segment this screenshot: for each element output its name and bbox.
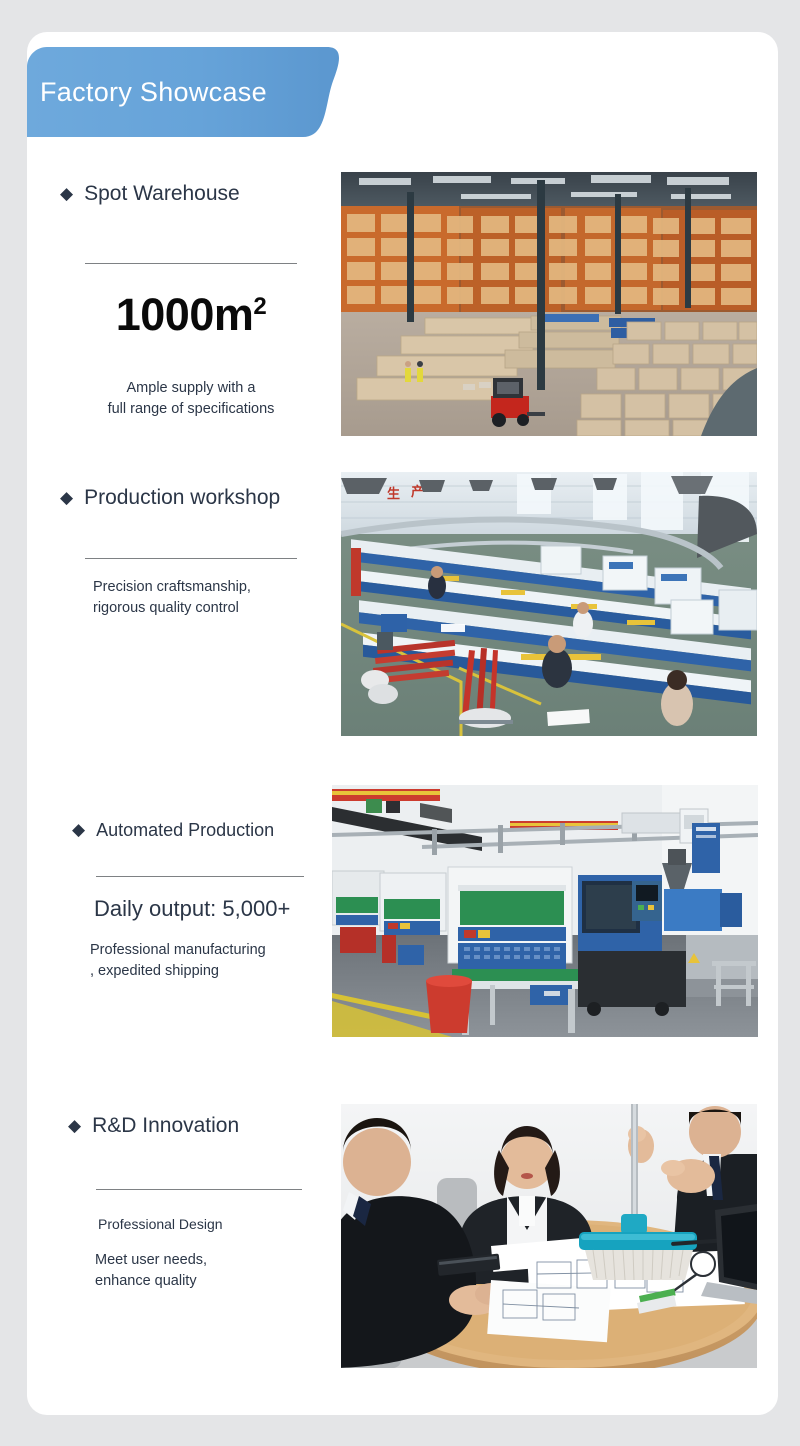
section-1-stat-superscript: 2	[253, 293, 266, 320]
section-3-heading: ◆ Automated Production	[72, 820, 274, 841]
section-2-heading: ◆ Production workshop	[60, 486, 280, 510]
section-4-description: Meet user needs, enhance quality	[95, 1250, 311, 1292]
section-3-image	[332, 785, 758, 1037]
section-2-description: Precision craftsmanship, rigorous qualit…	[93, 577, 319, 619]
section-3-title: Automated Production	[96, 820, 274, 841]
section-4-desc-line-3: enhance quality	[95, 1271, 311, 1292]
svg-text:生: 生	[387, 486, 400, 502]
section-1-image	[341, 172, 757, 436]
section-1-stat: 1000m2	[85, 292, 297, 337]
section-3-stat: Daily output: 5,000+	[94, 896, 290, 922]
section-1-heading: ◆ Spot Warehouse	[60, 182, 240, 206]
section-2-desc-line-1: Precision craftsmanship,	[93, 577, 319, 598]
section-3-desc-line-1: Professional manufacturing	[90, 940, 328, 961]
section-4-image	[341, 1104, 757, 1368]
section-1-divider	[85, 263, 297, 264]
section-1-desc-line-1: Ample supply with a	[75, 378, 307, 399]
section-1-title: Spot Warehouse	[84, 182, 240, 206]
section-3-description: Professional manufacturing , expedited s…	[90, 940, 328, 982]
section-1-desc-line-2: full range of specifications	[75, 399, 307, 420]
section-1-description: Ample supply with a full range of specif…	[75, 378, 307, 420]
section-4-subtitle: Professional Design	[98, 1214, 308, 1234]
page-title: Factory Showcase	[40, 47, 340, 137]
section-2-divider	[85, 558, 297, 559]
section-4-title: R&D Innovation	[92, 1114, 239, 1138]
section-4-heading: ◆ R&D Innovation	[68, 1114, 239, 1138]
diamond-bullet-icon: ◆	[72, 821, 85, 838]
factory-showcase-page: Factory Showcase ◆ Spot Warehouse 1000m2…	[0, 0, 800, 1446]
section-4-divider	[96, 1189, 302, 1190]
section-2-title: Production workshop	[84, 486, 280, 510]
diamond-bullet-icon: ◆	[60, 185, 73, 202]
section-1-stat-value: 1000m	[116, 289, 254, 340]
section-4-desc-line-2: Meet user needs,	[95, 1250, 311, 1271]
diamond-bullet-icon: ◆	[68, 1117, 81, 1134]
section-2-desc-line-2: rigorous quality control	[93, 598, 319, 619]
section-3-divider	[96, 876, 304, 877]
diamond-bullet-icon: ◆	[60, 489, 73, 506]
section-2-image: 生产	[341, 472, 757, 736]
section-3-desc-line-2: , expedited shipping	[90, 961, 328, 982]
